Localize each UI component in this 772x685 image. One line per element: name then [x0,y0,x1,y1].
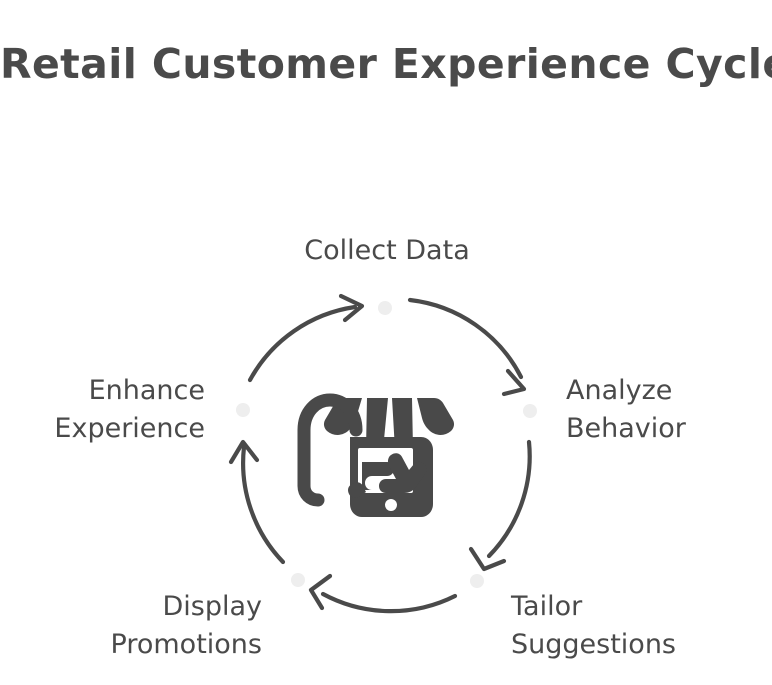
arrow-enhance-to-collect [250,296,362,380]
node-dot-collect-data [378,301,392,315]
cycle-label-collect-data: Collect Data [237,232,537,270]
arrow-analyze-to-tailor [471,442,530,569]
arrow-display-to-enhance [231,442,283,562]
arrow-tailor-to-display [311,576,455,611]
node-dot-display-promotions [291,573,305,587]
node-dot-analyze-behavior [523,404,537,418]
node-dot-enhance-experience [236,403,250,417]
arrow-collect-to-analyze [410,300,524,394]
cycle-label-analyze-behavior: Analyze Behavior [566,372,766,449]
cycle-diagram-page: Retail Customer Experience Cycle [0,0,772,685]
node-dot-tailor-suggestions [470,574,484,588]
cycle-label-display-promotions: Display Promotions [30,588,262,665]
cycle-label-tailor-suggestions: Tailor Suggestions [511,588,741,665]
storefront-mobile-shopping-icon [304,398,454,517]
cycle-label-enhance-experience: Enhance Experience [10,372,205,449]
cycle-graphic [0,0,772,685]
